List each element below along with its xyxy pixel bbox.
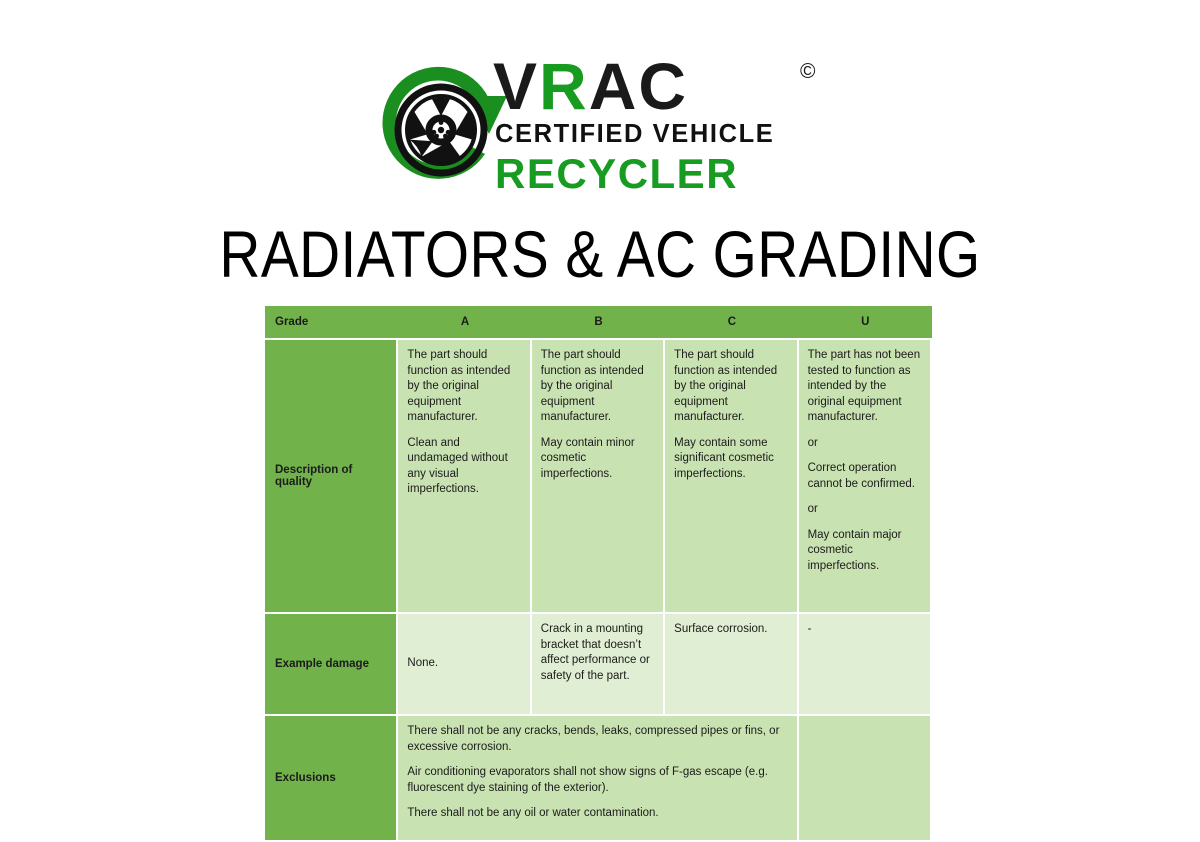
cell-exclusions-u — [799, 716, 932, 842]
header-grade-label: Grade — [265, 306, 398, 340]
logo-wordmark: VRAC © CERTIFIED VEHICLE RECYCLER — [493, 52, 838, 202]
brand-name: VRAC — [493, 50, 688, 122]
cell-paragraph: or — [808, 436, 921, 452]
cell-paragraph: May contain major cosmetic imperfections… — [808, 528, 921, 575]
cell-paragraph: The part should function as intended by … — [407, 348, 520, 426]
cell-description-c: The part should function as intended by … — [665, 340, 798, 614]
cell-paragraph: - — [808, 622, 921, 638]
cell-paragraph: Crack in a mounting bracket that doesn’t… — [541, 622, 654, 684]
page-title: RADIATORS & AC GRADING — [84, 216, 1116, 292]
cell-paragraph: The part has not been tested to function… — [808, 348, 921, 426]
cell-paragraph: or — [808, 502, 921, 518]
cell-description-u: The part has not been tested to function… — [799, 340, 932, 614]
header-grade-c: C — [665, 306, 798, 340]
logo-tagline-top: CERTIFIED VEHICLE — [495, 120, 774, 149]
cell-paragraph: There shall not be any cracks, bends, le… — [407, 724, 787, 755]
header-grade-a: A — [398, 306, 531, 340]
cell-description-a: The part should function as intended by … — [398, 340, 531, 614]
grading-table: Grade A B C U Description of quality The… — [265, 306, 932, 842]
table-row: Description of quality The part should f… — [265, 340, 932, 614]
cell-paragraph: May contain some significant cosmetic im… — [674, 436, 787, 483]
brand-letter-r: R — [539, 49, 589, 123]
cell-paragraph: Clean and undamaged without any visual i… — [407, 436, 520, 498]
cell-example-damage-a: None. — [398, 614, 531, 716]
cell-paragraph: Air conditioning evaporators shall not s… — [407, 765, 787, 796]
logo-inner: VRAC © CERTIFIED VEHICLE RECYCLER — [365, 52, 835, 202]
brand-letters-ac: AC — [589, 49, 688, 123]
header-grade-u: U — [799, 306, 932, 340]
cell-example-damage-u: - — [799, 614, 932, 716]
cell-paragraph: The part should function as intended by … — [541, 348, 654, 426]
brand-logo: VRAC © CERTIFIED VEHICLE RECYCLER — [0, 52, 1200, 202]
cell-example-damage-b: Crack in a mounting bracket that doesn’t… — [532, 614, 665, 716]
logo-tagline-bottom: RECYCLER — [495, 150, 738, 198]
cell-paragraph: Correct operation cannot be confirmed. — [808, 461, 921, 492]
brand-letter-v: V — [493, 49, 539, 123]
header-grade-b: B — [532, 306, 665, 340]
table-header: Grade A B C U — [265, 306, 932, 340]
cell-example-damage-c: Surface corrosion. — [665, 614, 798, 716]
cell-paragraph: May contain minor cosmetic imperfections… — [541, 436, 654, 483]
cell-paragraph: The part should function as intended by … — [674, 348, 787, 426]
cell-paragraph: Surface corrosion. — [674, 622, 787, 638]
recycling-arrow-wheel-icon — [373, 58, 513, 198]
table-header-row: Grade A B C U — [265, 306, 932, 340]
table-row: Example damage None. Crack in a mounting… — [265, 614, 932, 716]
cell-paragraph: None. — [407, 656, 520, 672]
table-row: Exclusions There shall not be any cracks… — [265, 716, 932, 842]
row-label-example-damage: Example damage — [265, 614, 398, 716]
row-label-description-of-quality: Description of quality — [265, 340, 398, 614]
cell-description-b: The part should function as intended by … — [532, 340, 665, 614]
cell-exclusions-merged: There shall not be any cracks, bends, le… — [398, 716, 798, 842]
cell-paragraph: There shall not be any oil or water cont… — [407, 806, 787, 822]
table-body: Description of quality The part should f… — [265, 340, 932, 842]
copyright-icon: © — [800, 60, 815, 84]
row-label-exclusions: Exclusions — [265, 716, 398, 842]
